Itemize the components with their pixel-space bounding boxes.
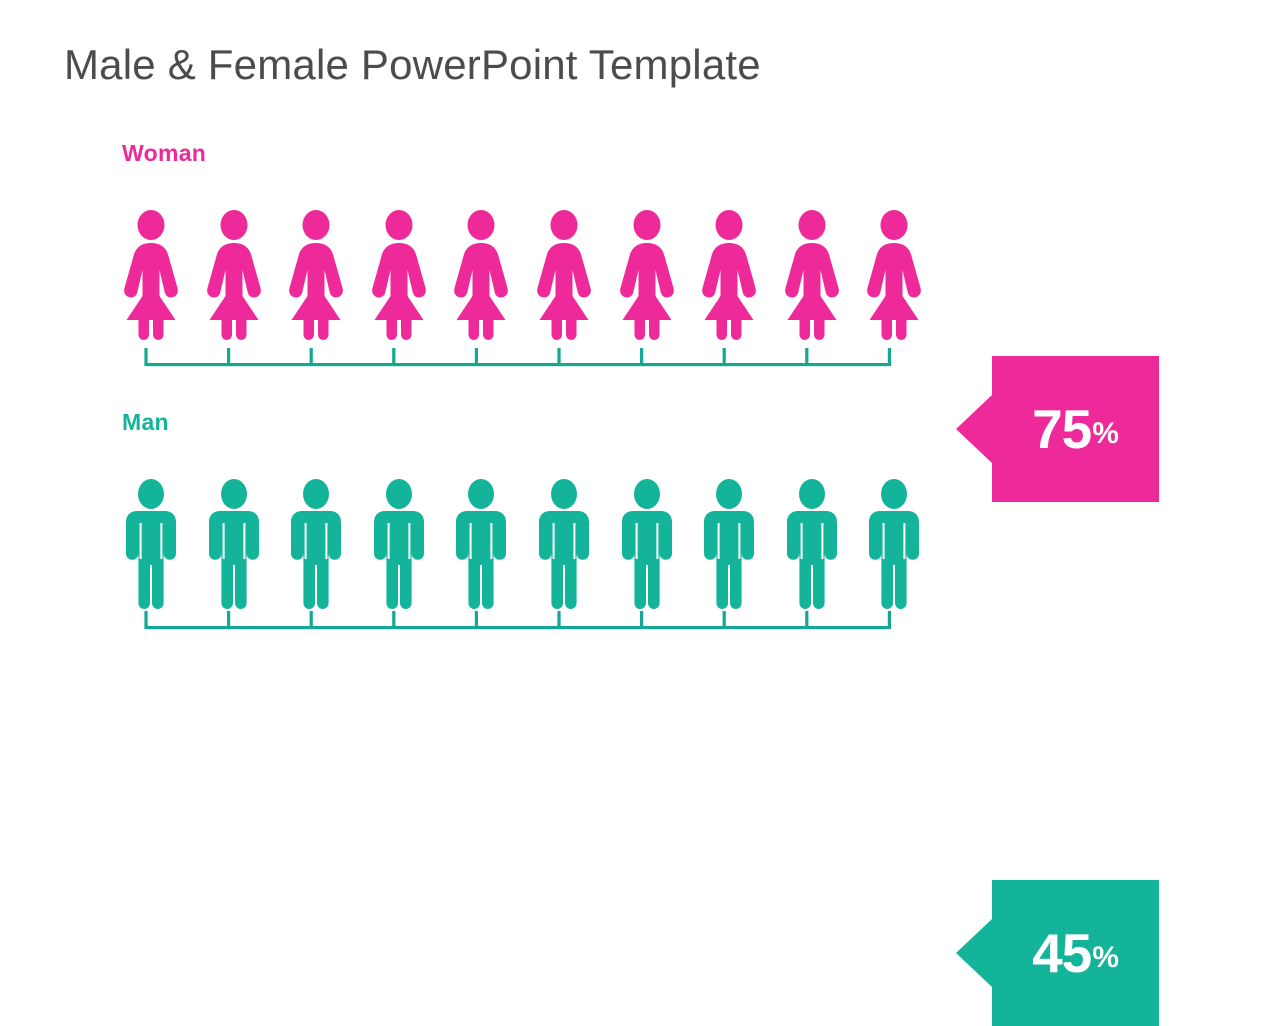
male-figure-icon [201,479,267,609]
callout-woman[interactable]: 75 % [956,356,1159,502]
female-figure-icon [283,210,349,340]
female-figure-icon [861,210,927,340]
group-label-woman: Woman [122,140,206,167]
male-figure-icon [283,479,349,609]
male-figure-icon [366,479,432,609]
male-figure-icon [861,479,927,609]
female-figure-icon [614,210,680,340]
male-figure-icon [696,479,762,609]
pictogram-row-man [118,479,908,609]
female-figure-icon [366,210,432,340]
male-figure-icon [779,479,845,609]
male-figure-icon [531,479,597,609]
female-figure-icon [201,210,267,340]
page-title: Male & Female PowerPoint Template [64,40,761,90]
axis-woman [118,342,908,370]
callout-shape-man [956,880,1159,1026]
female-figure-icon [448,210,514,340]
female-figure-icon [696,210,762,340]
male-figure-icon [448,479,514,609]
callout-shape-woman [956,356,1159,502]
axis-man [118,605,908,633]
male-figure-icon [118,479,184,609]
group-label-man: Man [122,409,169,436]
female-figure-icon [779,210,845,340]
female-figure-icon [118,210,184,340]
female-figure-icon [531,210,597,340]
male-figure-icon [614,479,680,609]
callout-man[interactable]: 45 % [956,880,1159,1026]
pictogram-row-woman [118,210,908,340]
slide-canvas: Male & Female PowerPoint Template Woman … [0,0,1280,720]
